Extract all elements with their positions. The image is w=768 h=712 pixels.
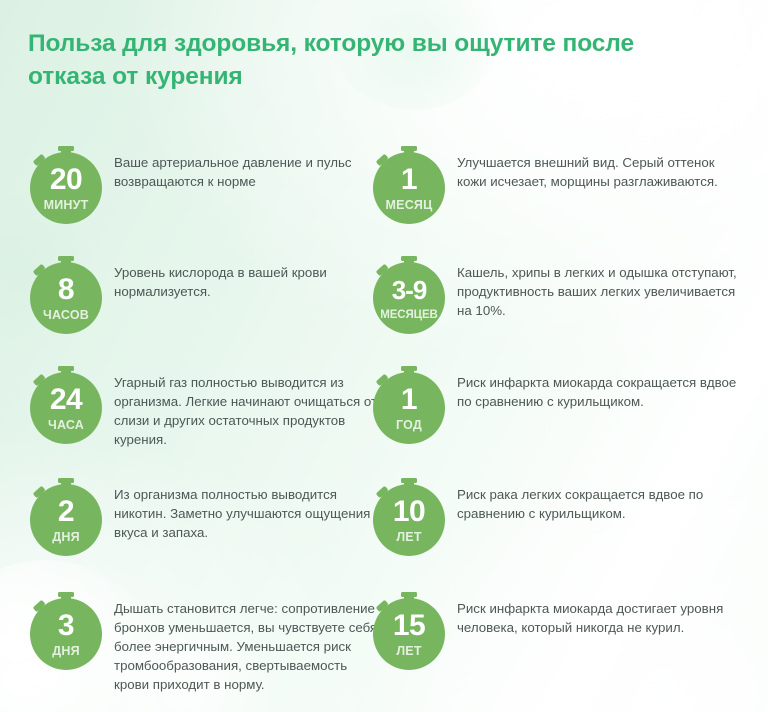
- stopwatch-icon: 15ЛЕТ: [373, 592, 445, 664]
- timeline-unit: МЕСЯЦ: [364, 198, 454, 212]
- timeline-item: 3-9МЕСЯЦЕВКашель, хрипы в легких и одышк…: [369, 242, 749, 352]
- background-bokeh-circle: [690, 35, 760, 105]
- timeline-number: 3: [30, 606, 102, 646]
- timeline-item: 15ЛЕТРиск инфаркта миокарда достигает ур…: [369, 578, 749, 698]
- timeline-number: 1: [373, 160, 445, 200]
- timeline-description: Кашель, хрипы в легких и одышка отступаю…: [457, 264, 745, 321]
- timeline-item: 24ЧАСАУгарный газ полностью выводится из…: [26, 352, 378, 462]
- timeline-unit: ДНЯ: [21, 530, 111, 544]
- infographic-canvas: Польза для здоровья, которую вы ощутите …: [0, 0, 768, 712]
- timeline-description: Улучшается внешний вид. Серый оттенок ко…: [457, 154, 745, 192]
- timeline-item: 1МЕСЯЦУлучшается внешний вид. Серый отте…: [369, 132, 749, 242]
- timeline-description: Ваше артериальное давление и пульс возвр…: [114, 154, 382, 192]
- timeline-item: 1ГОДРиск инфаркта миокарда сокращается в…: [369, 352, 749, 462]
- timeline-number: 10: [373, 492, 445, 532]
- timeline-description: Дышать становится легче: сопротивление б…: [114, 600, 382, 694]
- timeline-item: 2ДНЯИз организма полностью выводится ник…: [26, 464, 378, 576]
- timeline-description: Уровень кислорода в вашей крови нормализ…: [114, 264, 382, 302]
- timeline-item: 3ДНЯДышать становится легче: сопротивлен…: [26, 578, 378, 698]
- timeline-unit: ЛЕТ: [364, 644, 454, 658]
- stopwatch-icon: 2ДНЯ: [30, 478, 102, 550]
- page-title: Польза для здоровья, которую вы ощутите …: [28, 28, 638, 93]
- timeline-unit: МИНУТ: [21, 198, 111, 212]
- stopwatch-icon: 10ЛЕТ: [373, 478, 445, 550]
- timeline-number: 3-9: [373, 270, 445, 310]
- timeline-description: Риск инфаркта миокарда достигает уровня …: [457, 600, 745, 638]
- timeline-number: 2: [30, 492, 102, 532]
- timeline-item: 20МИНУТВаше артериальное давление и пуль…: [26, 132, 378, 242]
- timeline-unit: ДНЯ: [21, 644, 111, 658]
- timeline-number: 8: [30, 270, 102, 310]
- timeline-description: Из организма полностью выводится никотин…: [114, 486, 382, 543]
- stopwatch-icon: 8ЧАСОВ: [30, 256, 102, 328]
- stopwatch-icon: 3ДНЯ: [30, 592, 102, 664]
- stopwatch-icon: 24ЧАСА: [30, 366, 102, 438]
- timeline-unit: ЛЕТ: [364, 530, 454, 544]
- timeline-item: 8ЧАСОВУровень кислорода в вашей крови но…: [26, 242, 378, 352]
- timeline-unit: ГОД: [364, 418, 454, 432]
- timeline-item: 10ЛЕТРиск рака легких сокращается вдвое …: [369, 464, 749, 576]
- timeline-unit: ЧАСА: [21, 418, 111, 432]
- timeline-description: Риск рака легких сокращается вдвое по ср…: [457, 486, 745, 524]
- timeline-number: 24: [30, 380, 102, 420]
- timeline-unit: МЕСЯЦЕВ: [364, 308, 454, 322]
- timeline-number: 20: [30, 160, 102, 200]
- timeline-description: Риск инфаркта миокарда сокращается вдвое…: [457, 374, 745, 412]
- timeline-description: Угарный газ полностью выводится из орган…: [114, 374, 382, 450]
- stopwatch-icon: 1ГОД: [373, 366, 445, 438]
- timeline-unit: ЧАСОВ: [21, 308, 111, 322]
- stopwatch-icon: 3-9МЕСЯЦЕВ: [373, 256, 445, 328]
- timeline-number: 15: [373, 606, 445, 646]
- stopwatch-icon: 1МЕСЯЦ: [373, 146, 445, 218]
- stopwatch-icon: 20МИНУТ: [30, 146, 102, 218]
- timeline-number: 1: [373, 380, 445, 420]
